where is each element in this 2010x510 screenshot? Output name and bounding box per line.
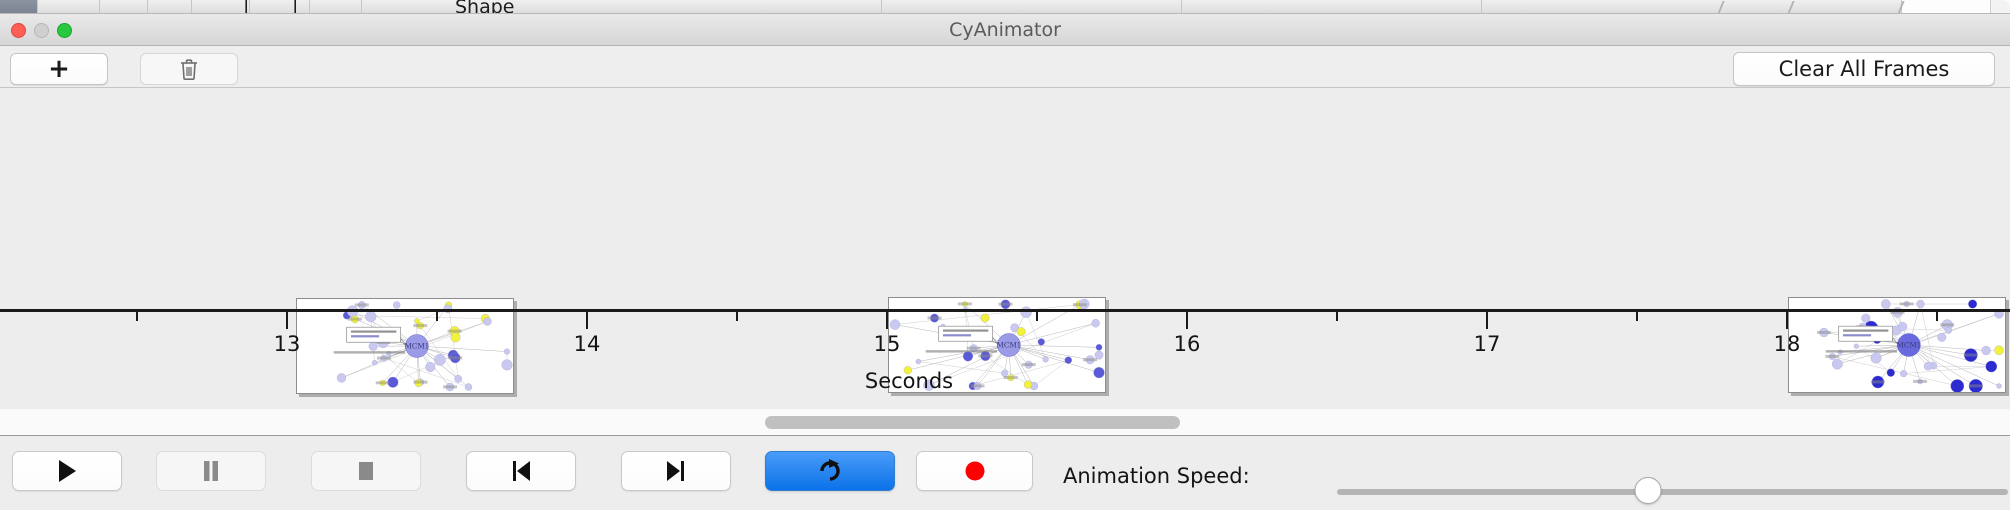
timeline-tick [1636, 312, 1638, 321]
skip-back-icon [509, 458, 533, 484]
pause-icon [200, 458, 222, 484]
window-title: CyAnimator [0, 14, 2010, 46]
timeline-tick [586, 312, 588, 329]
svg-text:MCM1: MCM1 [996, 341, 1021, 350]
animation-speed-slider[interactable] [1337, 481, 2008, 505]
scrollbar-thumb[interactable] [765, 416, 1180, 429]
slider-track[interactable] [1337, 489, 2008, 495]
record-icon [963, 459, 987, 483]
transport-bar: Animation Speed: [0, 437, 2010, 510]
clear-all-frames-button[interactable]: Clear All Frames [1733, 52, 1995, 86]
timeline-tick-label: 14 [574, 332, 601, 356]
timeline-tick-label: 16 [1174, 332, 1201, 356]
background-window-label: Shape [455, 0, 515, 14]
plus-icon: + [48, 56, 70, 82]
next-frame-button[interactable] [621, 451, 731, 491]
pause-button[interactable] [156, 451, 266, 491]
timeline-panel[interactable]: MCM1MCM1MCM1 2131415161718 Seconds [0, 89, 2010, 409]
play-button[interactable] [12, 451, 122, 491]
axis-title: Seconds [0, 369, 1818, 393]
loop-icon [817, 458, 843, 484]
svg-text:MCM1: MCM1 [404, 342, 429, 351]
trash-icon [180, 59, 198, 80]
background-glyph-bar: | [243, 0, 249, 14]
timeline-tick [136, 312, 138, 321]
skip-forward-icon [664, 458, 688, 484]
background-glyph-bar-2: | [292, 0, 298, 14]
timeline-tick-label: 18 [1774, 332, 1801, 356]
timeline-tick [1186, 312, 1188, 329]
delete-frame-button[interactable] [140, 53, 238, 85]
timeline-tick [886, 312, 888, 329]
timeline-tick [1936, 312, 1938, 321]
timeline-tick-label: 17 [1474, 332, 1501, 356]
add-frame-button[interactable]: + [10, 53, 108, 85]
slider-thumb[interactable] [1635, 477, 1662, 504]
timeline-tick-label: 13 [274, 332, 301, 356]
timeline-tick [1036, 312, 1038, 321]
timeline-tick [286, 312, 288, 329]
timeline-scrollbar[interactable] [0, 409, 2010, 436]
animation-speed-label: Animation Speed: [1063, 464, 1250, 488]
title-bar: CyAnimator [0, 14, 2010, 46]
play-icon [55, 458, 79, 484]
stop-icon [355, 459, 377, 483]
svg-text:MCM1: MCM1 [1896, 341, 1921, 350]
cyanimator-window: | | Shape CyAnimator + Clear All Frames [0, 0, 2010, 510]
toolbar: + Clear All Frames [0, 46, 2010, 88]
prev-frame-button[interactable] [466, 451, 576, 491]
timeline-tick [736, 312, 738, 321]
record-button[interactable] [916, 451, 1033, 491]
timeline-tick-label: 15 [874, 332, 901, 356]
clear-all-frames-label: Clear All Frames [1779, 57, 1950, 81]
timeline-tick [1486, 312, 1488, 329]
timeline-tick [1786, 312, 1788, 329]
background-window-strip: | | Shape [0, 0, 2010, 14]
timeline-tick [436, 312, 438, 321]
timeline-tick [1336, 312, 1338, 321]
stop-button[interactable] [311, 451, 421, 491]
loop-button[interactable] [765, 451, 895, 491]
timeline-axis [0, 309, 2010, 312]
